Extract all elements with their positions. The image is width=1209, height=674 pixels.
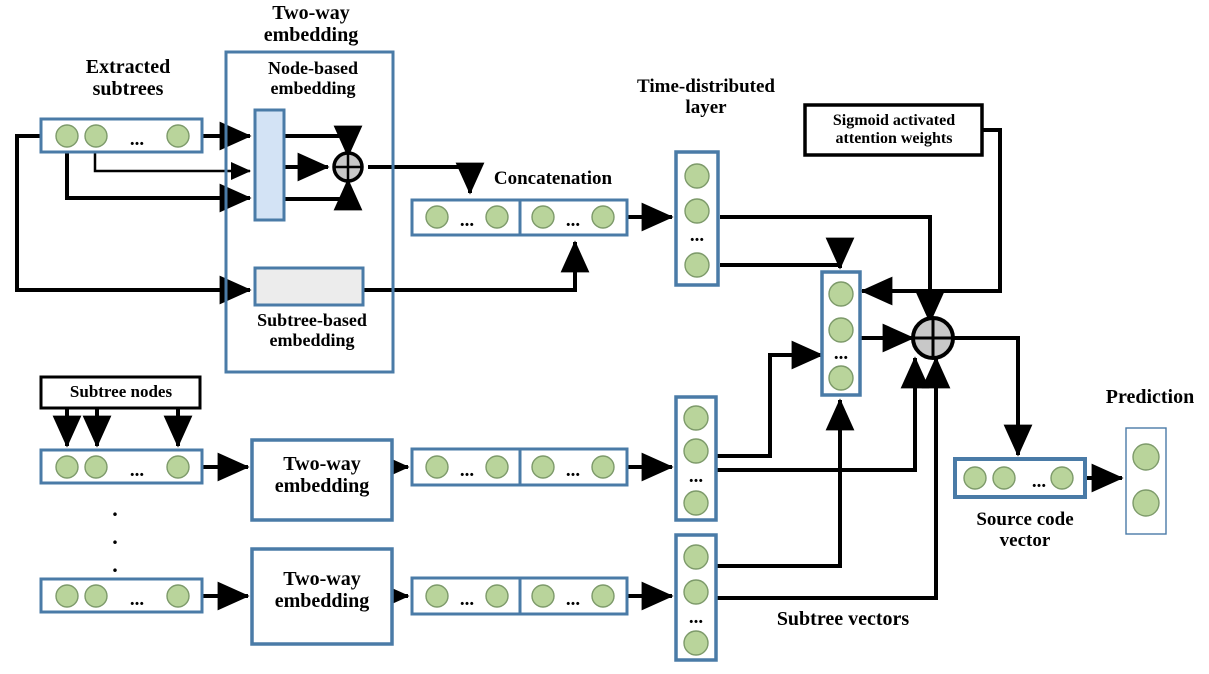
diagram-canvas: Extracted subtrees Two-way embedding Nod… bbox=[0, 0, 1209, 674]
ellipsis-concat-row2-left: ... bbox=[448, 589, 486, 610]
ellipsis-concat-top-right: ... bbox=[554, 210, 592, 231]
ellipsis-concat-row1-right: ... bbox=[554, 460, 592, 481]
vertical-dot-3: . bbox=[105, 553, 125, 578]
label-prediction: Prediction bbox=[1091, 386, 1209, 408]
ellipsis-node-row-1: ... bbox=[118, 460, 156, 481]
label-two-way-embedding-row2: Two-way embedding bbox=[256, 568, 388, 613]
ellipsis-concat-row1-left: ... bbox=[448, 460, 486, 481]
diagram-boxes bbox=[41, 52, 1166, 660]
label-time-distributed-layer: Time-distributed layer bbox=[611, 76, 801, 119]
label-two-way-embedding-row1: Two-way embedding bbox=[256, 453, 388, 498]
ellipsis-attention-column: ... bbox=[822, 343, 860, 364]
ellipsis-node-row-2: ... bbox=[118, 589, 156, 610]
vertical-dot-1: . bbox=[105, 497, 125, 522]
ellipsis-subtree-vector-2: ... bbox=[677, 607, 715, 628]
diagram-svg bbox=[0, 0, 1209, 674]
label-extracted-subtrees: Extracted subtrees bbox=[58, 56, 198, 101]
node-based-embedding-bar bbox=[255, 110, 284, 220]
ellipsis-time-distributed: ... bbox=[678, 225, 716, 246]
vertical-dot-2: . bbox=[105, 525, 125, 550]
label-node-based-embedding: Node-based embedding bbox=[238, 58, 388, 98]
ellipsis-extracted-subtrees: ... bbox=[118, 129, 156, 150]
label-two-way-embedding-top: Two-way embedding bbox=[232, 2, 390, 47]
label-subtree-nodes: Subtree nodes bbox=[45, 382, 197, 401]
subtree-based-embedding-box bbox=[255, 268, 363, 305]
label-concatenation: Concatenation bbox=[463, 168, 643, 189]
label-sigmoid-attention-weights: Sigmoid activated attention weights bbox=[808, 112, 980, 148]
label-source-code-vector: Source code vector bbox=[960, 509, 1090, 552]
ellipsis-concat-row2-right: ... bbox=[554, 589, 592, 610]
ellipsis-source-code-vector: ... bbox=[1020, 471, 1058, 492]
label-subtree-based-embedding: Subtree-based embedding bbox=[232, 310, 392, 350]
ellipsis-subtree-vector-1: ... bbox=[677, 466, 715, 487]
label-subtree-vectors: Subtree vectors bbox=[753, 608, 933, 630]
ellipsis-concat-top-left: ... bbox=[448, 210, 486, 231]
